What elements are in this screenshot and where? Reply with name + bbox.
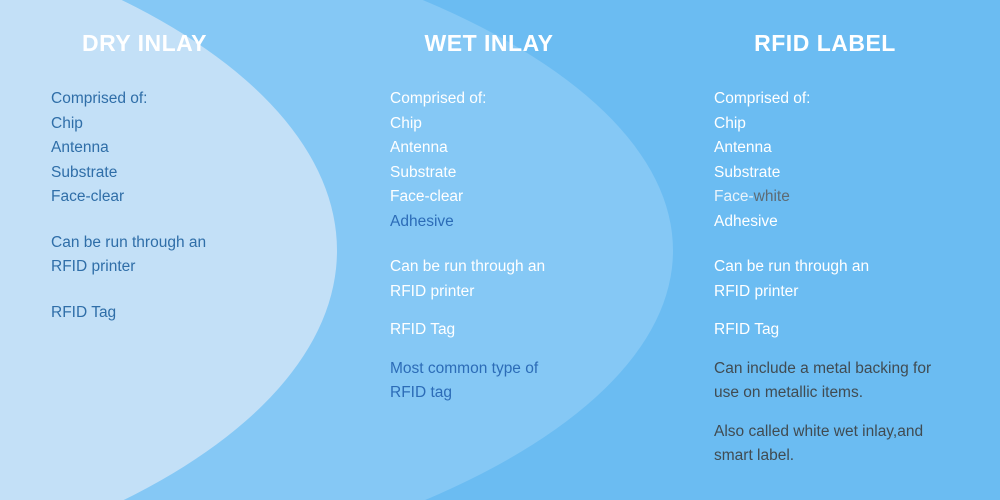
columns-container: DRY INLAY Comprised of: Chip Antenna Sub…	[0, 0, 1000, 500]
spacer	[714, 234, 1000, 255]
component-adhesive-wet: Adhesive	[390, 210, 680, 235]
printer-line-2-rfid: RFID printer	[714, 280, 1000, 305]
component-substrate-rfid: Substrate	[714, 161, 1000, 186]
printer-line-1-wet: Can be run through an	[390, 255, 680, 280]
component-face-wet: Face-clear	[390, 185, 680, 210]
column-dry-inlay: DRY INLAY Comprised of: Chip Antenna Sub…	[0, 0, 340, 500]
column-body-dry-inlay: Comprised of: Chip Antenna Substrate Fac…	[0, 87, 340, 325]
component-antenna-dry: Antenna	[51, 136, 340, 161]
component-face-rfid-prefix: Face-	[714, 188, 754, 205]
tag-label-rfid: RFID Tag	[714, 318, 1000, 343]
column-title-dry-inlay: DRY INLAY	[0, 30, 340, 57]
component-antenna-rfid: Antenna	[714, 136, 1000, 161]
tag-label-dry: RFID Tag	[51, 301, 340, 326]
column-title-wet-inlay: WET INLAY	[340, 30, 680, 57]
spacer	[390, 304, 680, 318]
component-face-dry: Face-clear	[51, 185, 340, 210]
component-antenna-wet: Antenna	[390, 136, 680, 161]
printer-line-2-dry: RFID printer	[51, 255, 340, 280]
printer-line-2-wet: RFID printer	[390, 280, 680, 305]
comprised-label-rfid: Comprised of:	[714, 87, 1000, 112]
component-face-rfid: Face-white	[714, 185, 1000, 210]
component-substrate-dry: Substrate	[51, 161, 340, 186]
column-rfid-label: RFID LABEL Comprised of: Chip Antenna Su…	[680, 0, 1000, 500]
spacer	[714, 406, 1000, 420]
column-body-wet-inlay: Comprised of: Chip Antenna Substrate Fac…	[340, 87, 680, 406]
comprised-label-wet: Comprised of:	[390, 87, 680, 112]
venn-infographic: DRY INLAY Comprised of: Chip Antenna Sub…	[0, 0, 1000, 500]
component-face-rfid-suffix: white	[754, 188, 790, 205]
spacer	[51, 210, 340, 231]
note-rfid-1: Can include a metal backing for use on m…	[714, 357, 959, 406]
tag-label-wet: RFID Tag	[390, 318, 680, 343]
component-substrate-wet: Substrate	[390, 161, 680, 186]
column-body-rfid-label: Comprised of: Chip Antenna Substrate Fac…	[680, 87, 1000, 469]
spacer	[51, 280, 340, 301]
component-adhesive-rfid: Adhesive	[714, 210, 1000, 235]
spacer	[714, 343, 1000, 357]
comprised-label-dry: Comprised of:	[51, 87, 340, 112]
spacer	[714, 304, 1000, 318]
note-wet-1: Most common type of RFID tag	[390, 357, 575, 406]
column-wet-inlay: WET INLAY Comprised of: Chip Antenna Sub…	[340, 0, 680, 500]
spacer	[390, 234, 680, 255]
component-chip-rfid: Chip	[714, 112, 1000, 137]
note-rfid-2: Also called white wet inlay,and smart la…	[714, 420, 964, 469]
component-chip-dry: Chip	[51, 112, 340, 137]
spacer	[390, 343, 680, 357]
component-chip-wet: Chip	[390, 112, 680, 137]
printer-line-1-rfid: Can be run through an	[714, 255, 1000, 280]
column-title-rfid-label: RFID LABEL	[680, 30, 1000, 57]
printer-line-1-dry: Can be run through an	[51, 231, 340, 256]
